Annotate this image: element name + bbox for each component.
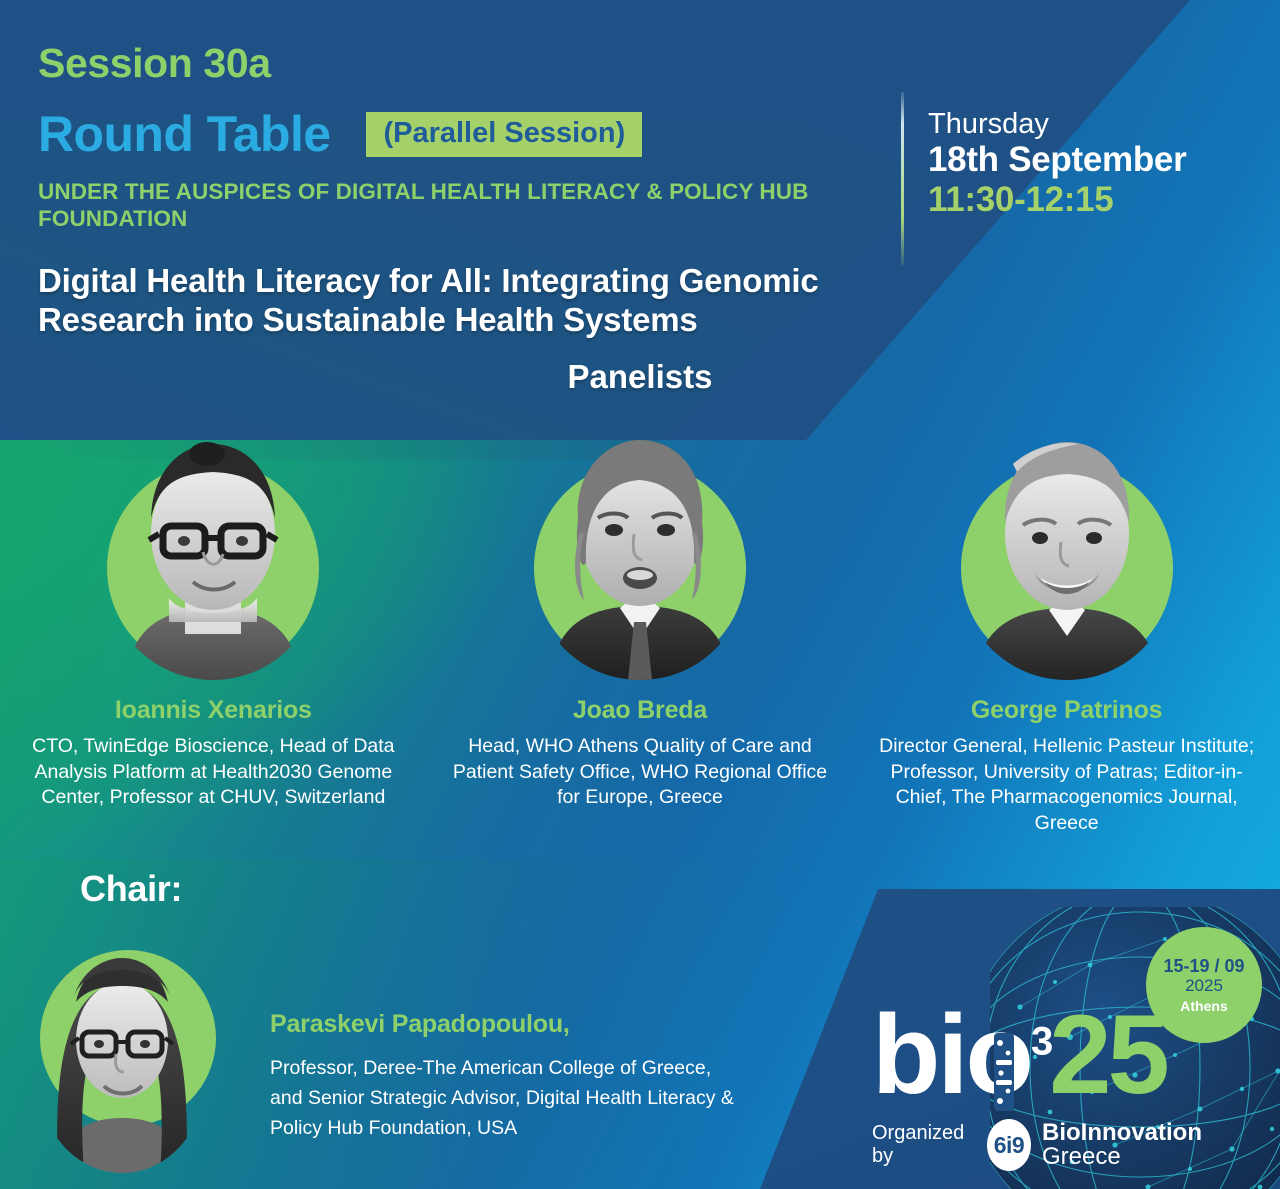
parallel-session-badge: (Parallel Session) (366, 112, 642, 157)
organizer-row: Organized by 6i9 BioInnovation Greece (872, 1119, 1202, 1171)
chair-card: Paraskevi Papadopoulou, Professor, Deree… (28, 928, 788, 1178)
panelist-name: Ioannis Xenarios (115, 696, 312, 725)
panelist-card: Ioannis Xenarios CTO, TwinEdge Bioscienc… (3, 415, 423, 811)
portrait-paraskevi-papadopoulou (38, 928, 206, 1173)
panelist-avatar (961, 415, 1173, 680)
portrait-joao-breda (534, 422, 746, 680)
session-number-label: Session 30a (38, 40, 271, 87)
portrait-ioannis-xenarios (107, 422, 319, 680)
organizer-line2: Greece (1042, 1145, 1202, 1169)
panelists-row: Ioannis Xenarios CTO, TwinEdge Bioscienc… (0, 415, 1280, 837)
portrait-george-patrinos (961, 422, 1173, 680)
panelist-avatar (534, 415, 746, 680)
session-poster: Session 30a Round Table (Parallel Sessio… (0, 0, 1280, 1189)
date-text: 18th September (928, 140, 1186, 179)
chair-text-block: Paraskevi Papadopoulou, Professor, Deree… (210, 928, 740, 1144)
panelist-bio: CTO, TwinEdge Bioscience, Head of Data A… (23, 734, 403, 811)
panelists-heading: Panelists (0, 358, 1280, 396)
session-title: Digital Health Literacy for All: Integra… (38, 262, 968, 340)
organizer-name: BioInnovation Greece (1042, 1121, 1202, 1170)
badge-dates: 15-19 / 09 (1163, 956, 1244, 977)
poster-header: Session 30a Round Table (Parallel Sessio… (0, 0, 1280, 260)
chair-bio: Professor, Deree-The American College of… (270, 1053, 740, 1144)
bioinnovation-badge-icon: 6i9 (987, 1119, 1031, 1171)
panelist-bio: Director General, Hellenic Pasteur Insti… (877, 734, 1257, 837)
panelist-name: Joao Breda (573, 696, 707, 725)
auspices-text: UNDER THE AUSPICES OF DIGITAL HEALTH LIT… (38, 178, 868, 233)
panelist-card: Joao Breda Head, WHO Athens Quality of C… (430, 415, 850, 811)
event-logo-block: bio3 25 Organized by (872, 1007, 1202, 1171)
bio-superscript: 3 (1031, 1019, 1053, 1063)
year-25: 25 (1049, 1007, 1166, 1103)
session-type-row: Round Table (Parallel Session) (38, 105, 642, 163)
date-time-block: Thursday 18th September 11:30-12:15 (928, 108, 1186, 220)
header-divider (901, 92, 904, 266)
bio-wordmark: bio3 (872, 1007, 1053, 1103)
session-type-label: Round Table (38, 105, 330, 163)
chair-name: Paraskevi Papadopoulou, (270, 1010, 740, 1039)
chair-avatar (28, 928, 210, 1178)
organizer-line1: BioInnovation (1042, 1121, 1202, 1145)
bio25-logo: bio3 25 (872, 1007, 1202, 1103)
day-name: Thursday (928, 108, 1186, 140)
organized-by-label: Organized by (872, 1122, 973, 1168)
test-tube-icon (991, 1025, 1017, 1103)
panelist-card: George Patrinos Director General, Hellen… (857, 415, 1277, 837)
chair-label: Chair: (80, 868, 182, 910)
badge-year: 2025 (1185, 976, 1223, 996)
panelist-avatar (107, 415, 319, 680)
panelist-bio: Head, WHO Athens Quality of Care and Pat… (450, 734, 830, 811)
panelist-name: George Patrinos (971, 696, 1163, 725)
time-text: 11:30-12:15 (928, 180, 1186, 220)
